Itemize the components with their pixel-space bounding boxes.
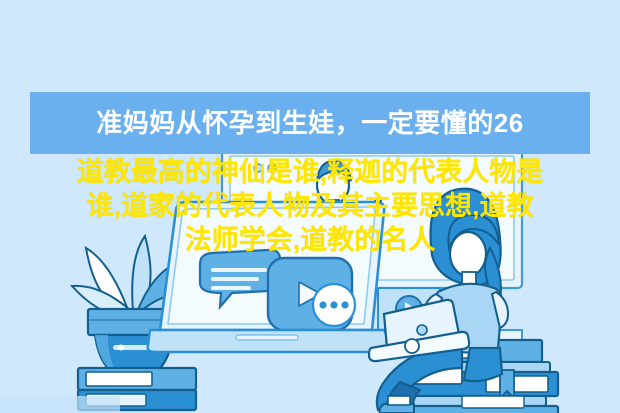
- caption-overlay: 道教最高的神仙是谁,释迦的代表人物是 谁,道家的代表人物及其主要思想,道教 法师…: [0, 155, 620, 257]
- caption-line-3: 法师学会,道教的名人: [0, 223, 620, 257]
- caption-line-2: 谁,道家的代表人物及其主要思想,道教: [0, 189, 620, 223]
- caption-line-1: 道教最高的神仙是谁,释迦的代表人物是: [0, 155, 620, 189]
- floor-shadow: [0, 396, 120, 413]
- dots-badge: [313, 284, 355, 326]
- screenshot-canvas: 准妈妈从怀孕到生娃，一定要懂的26 道教最高的神仙是谁,释迦的代表人物是 谁,道…: [0, 0, 620, 413]
- title-banner-text: 准妈妈从怀孕到生娃，一定要懂的26: [96, 110, 523, 136]
- title-banner: 准妈妈从怀孕到生娃，一定要懂的26: [30, 92, 590, 154]
